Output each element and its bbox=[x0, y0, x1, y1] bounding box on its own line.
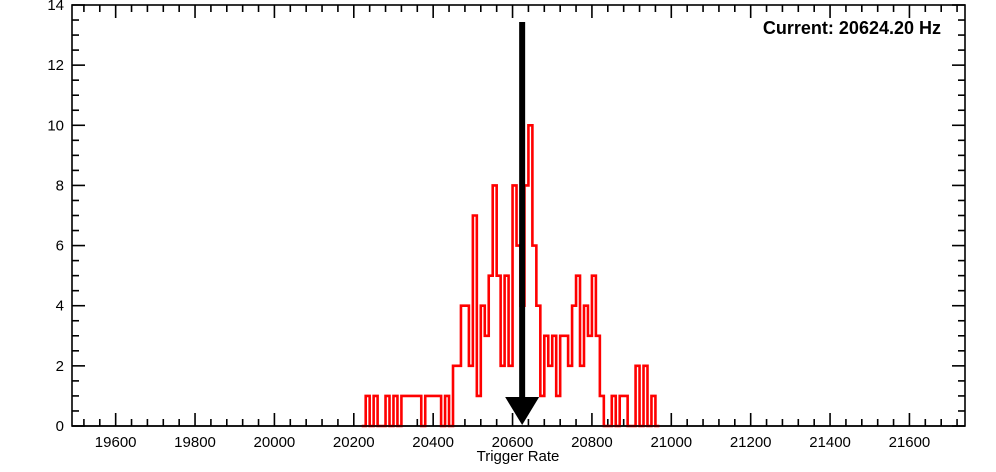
x-tick-label: 21000 bbox=[650, 434, 692, 451]
x-tick-label: 20000 bbox=[254, 434, 296, 451]
y-tick-label: 4 bbox=[56, 298, 64, 315]
x-tick-label: 20800 bbox=[571, 434, 613, 451]
y-tick-label: 0 bbox=[56, 418, 64, 435]
x-axis-title: Trigger Rate bbox=[477, 448, 560, 465]
x-tick-label: 20400 bbox=[412, 434, 454, 451]
x-tick-label: 21200 bbox=[730, 434, 772, 451]
current-value-label: Current: 20624.20 Hz bbox=[763, 18, 941, 38]
x-tick-label: 19600 bbox=[95, 434, 137, 451]
y-tick-label: 6 bbox=[56, 238, 64, 255]
y-tick-label: 8 bbox=[56, 177, 64, 194]
x-tick-label: 19800 bbox=[174, 434, 216, 451]
y-tick-label: 2 bbox=[56, 358, 64, 375]
y-tick-label: 12 bbox=[47, 57, 64, 74]
y-tick-label: 10 bbox=[47, 117, 64, 134]
x-tick-label: 21400 bbox=[809, 434, 851, 451]
histogram-plot: 02468101214 1960019800200002020020400206… bbox=[0, 0, 996, 472]
x-tick-label: 21600 bbox=[889, 434, 931, 451]
y-tick-label: 14 bbox=[47, 0, 64, 14]
chart-canvas: 02468101214 1960019800200002020020400206… bbox=[0, 0, 996, 472]
plot-background bbox=[0, 0, 996, 472]
x-tick-label: 20200 bbox=[333, 434, 375, 451]
